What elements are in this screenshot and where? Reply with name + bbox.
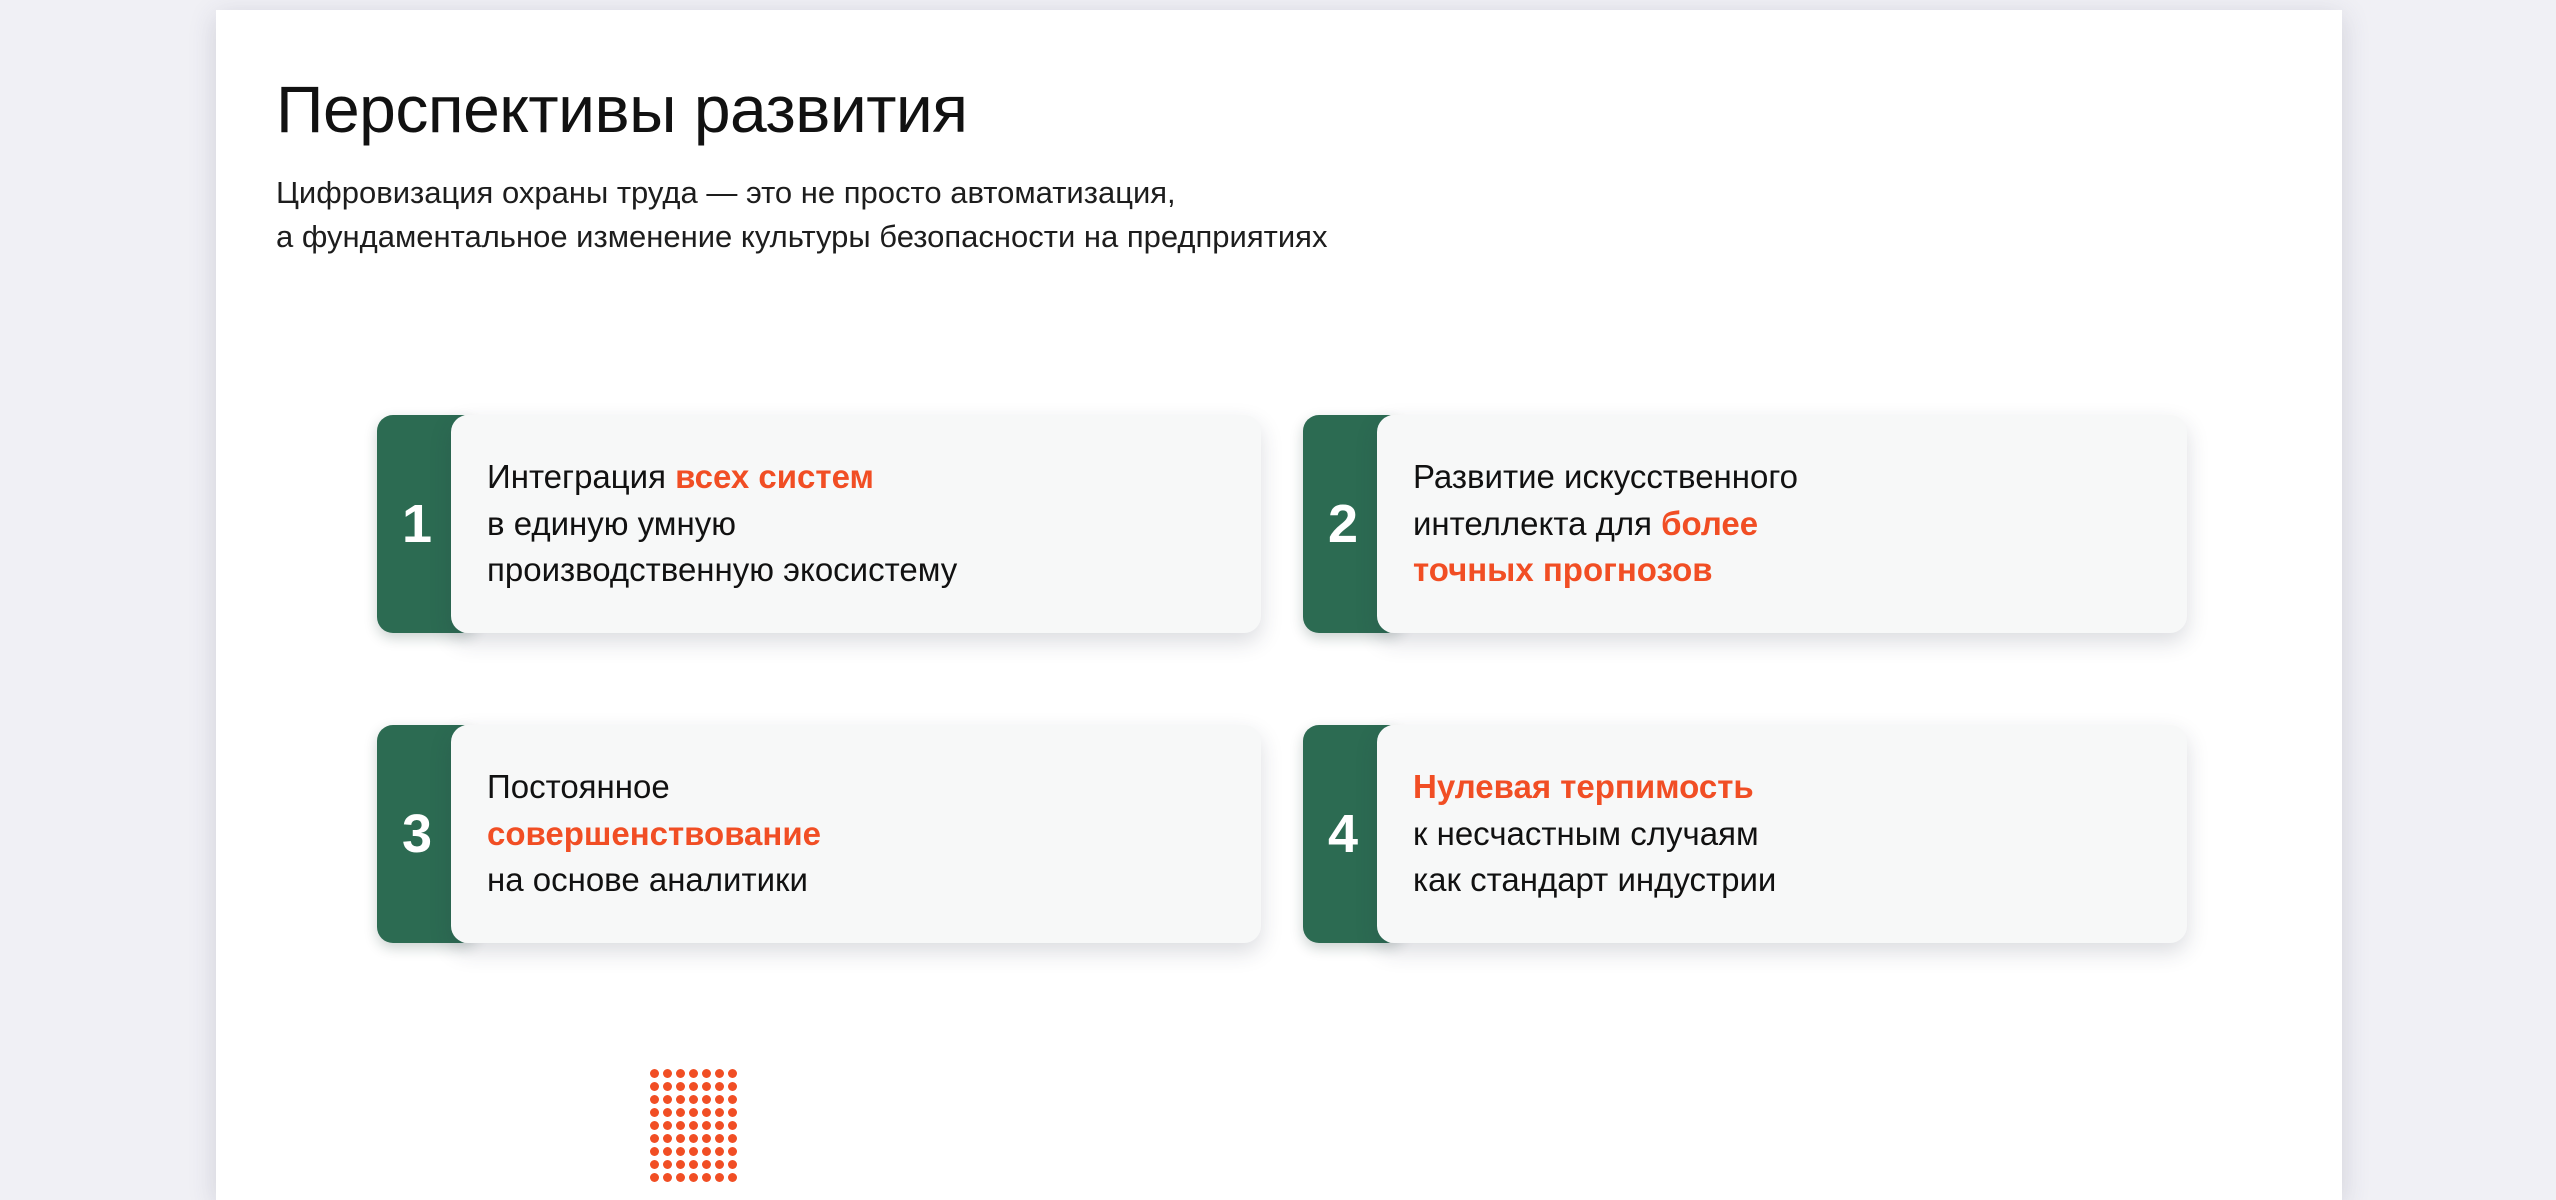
card-text-run: интеллекта для bbox=[1413, 505, 1661, 542]
card-panel-3: Постоянное совершенствование на основе а… bbox=[451, 725, 1261, 943]
card-text-4: Нулевая терпимость к несчастным случаям … bbox=[1413, 764, 1776, 905]
card-text-run-highlight: точных прогнозов bbox=[1413, 551, 1713, 588]
card-number-label-4: 4 bbox=[1328, 807, 1378, 861]
dot bbox=[728, 1134, 737, 1143]
card-text-line: в единую умную bbox=[487, 501, 957, 548]
dot bbox=[702, 1134, 711, 1143]
card-text-run-highlight: совершенствование bbox=[487, 815, 821, 852]
feature-card-2[interactable]: 2 Развитие искусственного интеллекта для… bbox=[1303, 415, 2187, 633]
dot bbox=[715, 1173, 724, 1182]
card-text-run: на основе аналитики bbox=[487, 861, 808, 898]
card-text-run: Развитие искусственного bbox=[1413, 458, 1798, 495]
dot-grid-icon bbox=[650, 1069, 741, 1186]
card-text-line: Интеграция всех систем bbox=[487, 454, 957, 501]
dot bbox=[676, 1173, 685, 1182]
card-text-line: интеллекта для более bbox=[1413, 501, 1798, 548]
card-number-label-2: 2 bbox=[1328, 497, 1378, 551]
dot bbox=[728, 1121, 737, 1130]
feature-card-4[interactable]: 4 Нулевая терпимость к несчастным случая… bbox=[1303, 725, 2187, 943]
dot bbox=[702, 1121, 711, 1130]
page-subtitle: Цифровизация охраны труда — это не прост… bbox=[276, 145, 2176, 259]
dot bbox=[715, 1069, 724, 1078]
dot bbox=[702, 1147, 711, 1156]
dot bbox=[728, 1082, 737, 1091]
dot bbox=[728, 1147, 737, 1156]
dot bbox=[676, 1108, 685, 1117]
card-text-run: производственную экосистему bbox=[487, 551, 957, 588]
dot bbox=[715, 1095, 724, 1104]
dot bbox=[715, 1121, 724, 1130]
card-text-line: совершенствование bbox=[487, 811, 821, 858]
card-text-line: точных прогнозов bbox=[1413, 547, 1798, 594]
card-number-label-3: 3 bbox=[402, 807, 452, 861]
dot bbox=[663, 1069, 672, 1078]
card-text-line: как стандарт индустрии bbox=[1413, 857, 1776, 904]
card-text-line: Постоянное bbox=[487, 764, 821, 811]
card-text-run: как стандарт индустрии bbox=[1413, 861, 1776, 898]
card-panel-4: Нулевая терпимость к несчастным случаям … bbox=[1377, 725, 2187, 943]
dot bbox=[689, 1121, 698, 1130]
dot bbox=[728, 1095, 737, 1104]
dot bbox=[689, 1173, 698, 1182]
dot bbox=[702, 1069, 711, 1078]
card-text-2: Развитие искусственного интеллекта для б… bbox=[1413, 454, 1798, 595]
page-subtitle-line-2: а фундаментальное изменение культуры без… bbox=[276, 215, 2176, 259]
dot bbox=[728, 1108, 737, 1117]
dot bbox=[663, 1108, 672, 1117]
card-text-line: Развитие искусственного bbox=[1413, 454, 1798, 501]
page-title: Перспективы развития bbox=[276, 75, 2176, 145]
card-text-run-highlight: более bbox=[1661, 505, 1758, 542]
feature-card-3[interactable]: 3 Постоянное совершенствование на основе… bbox=[377, 725, 1261, 943]
dot bbox=[650, 1095, 659, 1104]
dot bbox=[715, 1160, 724, 1169]
dot bbox=[676, 1082, 685, 1091]
dot bbox=[663, 1095, 672, 1104]
dot bbox=[689, 1147, 698, 1156]
dot bbox=[676, 1134, 685, 1143]
dot bbox=[689, 1160, 698, 1169]
dot bbox=[663, 1082, 672, 1091]
card-text-run-highlight: Нулевая терпимость bbox=[1413, 768, 1754, 805]
dot bbox=[702, 1082, 711, 1091]
dot bbox=[702, 1160, 711, 1169]
dot bbox=[702, 1173, 711, 1182]
dot bbox=[663, 1147, 672, 1156]
card-text-run: к несчастным случаям bbox=[1413, 815, 1759, 852]
dot bbox=[650, 1160, 659, 1169]
dot bbox=[715, 1134, 724, 1143]
dot bbox=[663, 1173, 672, 1182]
feature-card-grid: 1 Интеграция всех систем в единую умную … bbox=[377, 415, 2187, 943]
card-text-line: к несчастным случаям bbox=[1413, 811, 1776, 858]
dot bbox=[689, 1082, 698, 1091]
card-panel-1: Интеграция всех систем в единую умную пр… bbox=[451, 415, 1261, 633]
dot bbox=[728, 1173, 737, 1182]
dot bbox=[650, 1173, 659, 1182]
dot bbox=[715, 1108, 724, 1117]
dot bbox=[650, 1108, 659, 1117]
dot bbox=[702, 1095, 711, 1104]
slide-sheet: Перспективы развития Цифровизация охраны… bbox=[216, 10, 2342, 1200]
dot bbox=[715, 1147, 724, 1156]
dot bbox=[689, 1108, 698, 1117]
dot bbox=[676, 1069, 685, 1078]
card-text-line: Нулевая терпимость bbox=[1413, 764, 1776, 811]
card-panel-2: Развитие искусственного интеллекта для б… bbox=[1377, 415, 2187, 633]
dot bbox=[663, 1160, 672, 1169]
dot bbox=[715, 1082, 724, 1091]
dot bbox=[676, 1095, 685, 1104]
dot bbox=[650, 1147, 659, 1156]
card-text-run: Постоянное bbox=[487, 768, 670, 805]
dot bbox=[689, 1095, 698, 1104]
dot bbox=[650, 1121, 659, 1130]
card-number-label-1: 1 bbox=[402, 497, 452, 551]
dot bbox=[650, 1082, 659, 1091]
dot bbox=[702, 1108, 711, 1117]
card-text-line: на основе аналитики bbox=[487, 857, 821, 904]
dot bbox=[676, 1121, 685, 1130]
dot bbox=[689, 1134, 698, 1143]
card-text-3: Постоянное совершенствование на основе а… bbox=[487, 764, 821, 905]
card-text-line: производственную экосистему bbox=[487, 547, 957, 594]
dot bbox=[663, 1134, 672, 1143]
card-text-1: Интеграция всех систем в единую умную пр… bbox=[487, 454, 957, 595]
dot bbox=[650, 1134, 659, 1143]
dot bbox=[689, 1069, 698, 1078]
feature-card-1[interactable]: 1 Интеграция всех систем в единую умную … bbox=[377, 415, 1261, 633]
page-subtitle-line-1: Цифровизация охраны труда — это не прост… bbox=[276, 171, 2176, 215]
dot bbox=[676, 1147, 685, 1156]
card-text-run: в единую умную bbox=[487, 505, 736, 542]
dot bbox=[676, 1160, 685, 1169]
card-text-run-highlight: всех систем bbox=[675, 458, 874, 495]
dot bbox=[650, 1069, 659, 1078]
card-text-run: Интеграция bbox=[487, 458, 675, 495]
dot bbox=[728, 1160, 737, 1169]
dot bbox=[728, 1069, 737, 1078]
slide-heading: Перспективы развития Цифровизация охраны… bbox=[276, 75, 2176, 259]
slide-stage: Перспективы развития Цифровизация охраны… bbox=[0, 0, 2556, 1179]
dot bbox=[663, 1121, 672, 1130]
